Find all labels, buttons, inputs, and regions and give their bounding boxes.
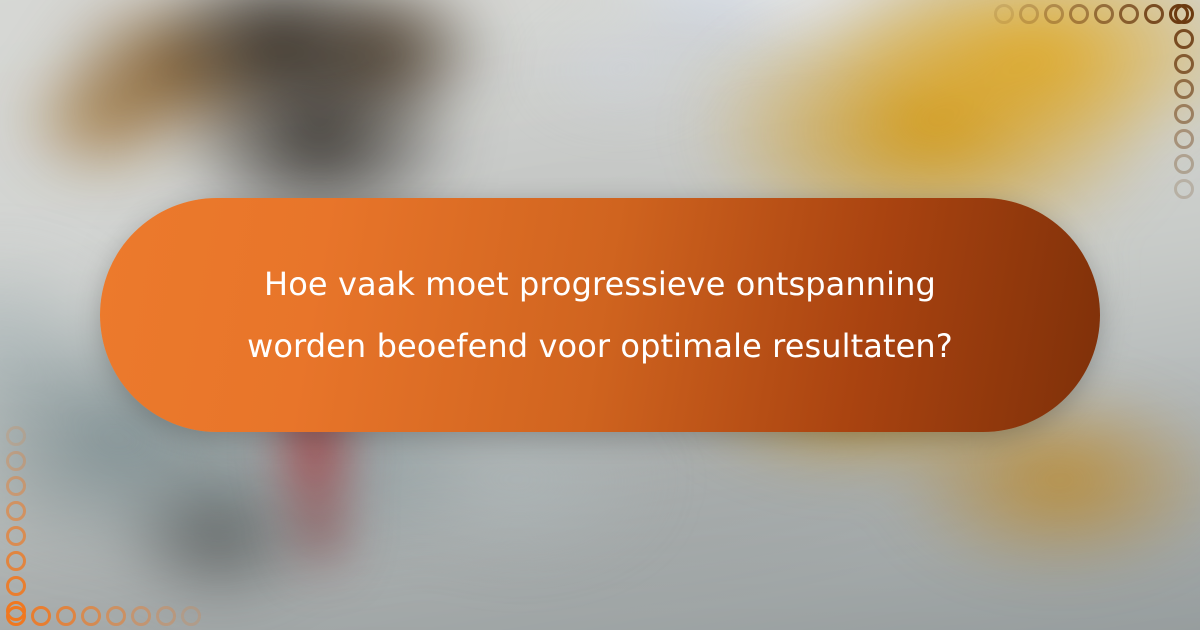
decorative-dot-bottom-left-row-2	[31, 606, 51, 626]
decorative-dot-bottom-left-col-4	[6, 501, 26, 521]
decorative-dot-top-right-col-8	[1174, 179, 1194, 199]
decorative-dot-top-right-row-7	[1144, 4, 1164, 24]
decorative-dot-top-right-col-4	[1174, 79, 1194, 99]
dot-column-top-right	[1174, 4, 1194, 204]
decorative-dot-bottom-left-row-8	[181, 606, 201, 626]
decorative-dot-bottom-left-col-5	[6, 526, 26, 546]
decorative-dot-top-right-row-3	[1044, 4, 1064, 24]
decorative-dot-bottom-left-row-4	[81, 606, 101, 626]
decorative-dot-top-right-row-6	[1119, 4, 1139, 24]
decorative-dot-bottom-left-row-3	[56, 606, 76, 626]
decorative-dot-top-right-row-1	[994, 4, 1014, 24]
decorative-dot-bottom-left-col-7	[6, 576, 26, 596]
decorative-dot-top-right-col-5	[1174, 104, 1194, 124]
decorative-dot-bottom-left-col-2	[6, 451, 26, 471]
decorative-dot-bottom-left-row-5	[106, 606, 126, 626]
decorative-dot-top-right-row-4	[1069, 4, 1089, 24]
question-banner: Hoe vaak moet progressieve ontspanning w…	[100, 198, 1100, 432]
decorative-dot-top-right-col-1	[1174, 4, 1194, 24]
dot-row-top-right	[994, 4, 1194, 24]
decorative-dot-bottom-left-col-1	[6, 426, 26, 446]
decorative-dot-bottom-left-row-1	[6, 606, 26, 626]
decorative-dot-top-right-col-6	[1174, 129, 1194, 149]
social-card: Hoe vaak moet progressieve ontspanning w…	[0, 0, 1200, 630]
decorative-dot-top-right-row-5	[1094, 4, 1114, 24]
decorative-dot-bottom-left-row-6	[131, 606, 151, 626]
question-heading: Hoe vaak moet progressieve ontspanning w…	[247, 253, 953, 377]
decorative-dot-top-right-row-2	[1019, 4, 1039, 24]
dot-row-bottom-left	[6, 606, 206, 626]
decorative-dot-top-right-col-3	[1174, 54, 1194, 74]
decorative-dot-top-right-col-7	[1174, 154, 1194, 174]
decorative-dot-bottom-left-row-7	[156, 606, 176, 626]
decorative-dot-top-right-col-2	[1174, 29, 1194, 49]
dot-column-bottom-left	[6, 426, 26, 626]
decorative-dot-bottom-left-col-6	[6, 551, 26, 571]
decorative-dot-bottom-left-col-3	[6, 476, 26, 496]
